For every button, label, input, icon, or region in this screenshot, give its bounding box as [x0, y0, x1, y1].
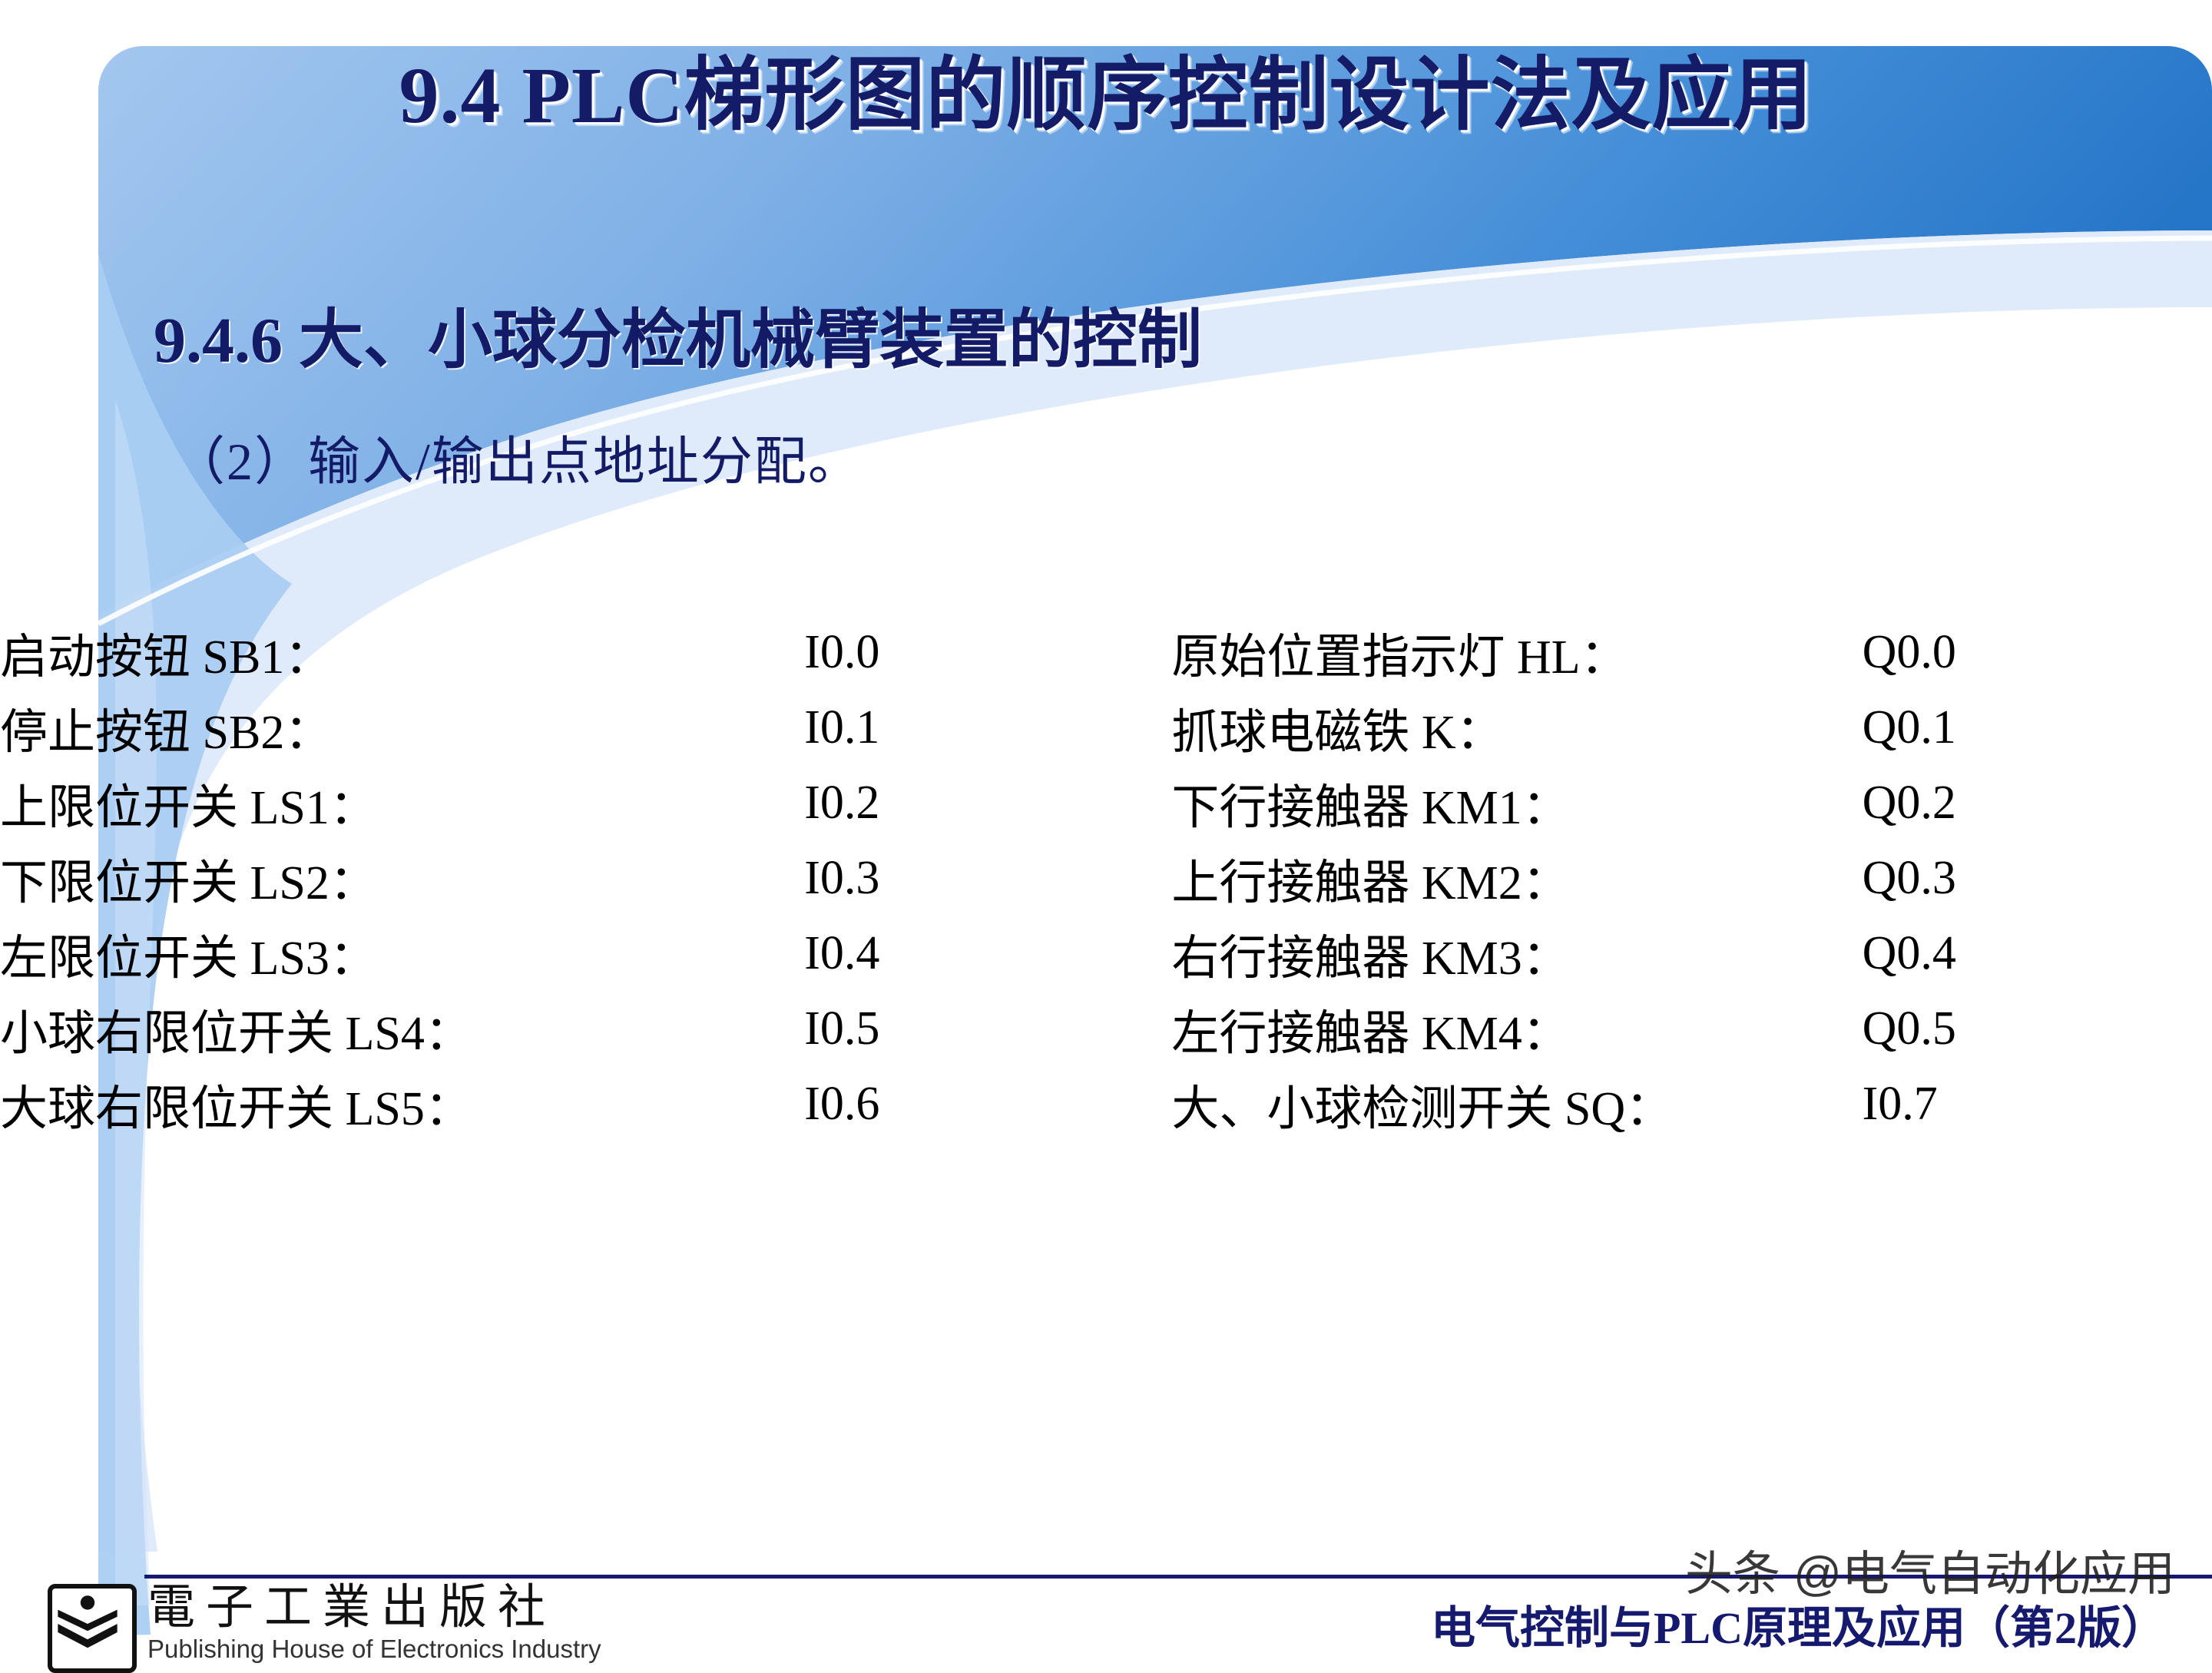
output-device-label: 抓球电磁铁 K：	[1171, 690, 1862, 765]
table-row: 上限位开关 LS1： I0.2 下行接触器 KM1： Q0.2	[0, 765, 2212, 840]
intro-line: （2）输入/输出点地址分配。	[173, 419, 862, 495]
table-row: 小球右限位开关 LS4： I0.5 左行接触器 KM4： Q0.5	[0, 991, 2212, 1066]
output-device-label: 上行接触器 KM2：	[1171, 840, 1862, 916]
table-row: 左限位开关 LS3： I0.4 右行接触器 KM3： Q0.4	[0, 916, 2212, 991]
output-device-label: 下行接触器 KM1：	[1171, 765, 1862, 840]
input-device-label: 上限位开关 LS1：	[0, 765, 804, 840]
input-device-label: 大球右限位开关 LS5：	[0, 1066, 804, 1141]
watermark-text: 头条 @电气自动化应用	[1685, 1535, 2175, 1604]
input-address: I0.2	[804, 765, 1171, 840]
output-device-label: 大、小球检测开关 SQ：	[1171, 1066, 1862, 1141]
publisher-name-cn: 電子工業出版社	[147, 1584, 601, 1632]
slide-content: 9.4.6 大、小球分检机械臂装置的控制 （2）输入/输出点地址分配。 启动按钮…	[0, 0, 2212, 1659]
phei-emblem-icon	[48, 1584, 137, 1673]
phei-chevron-icon	[52, 1589, 123, 1659]
output-address: I0.7	[1863, 1066, 2212, 1141]
publisher-name-en: Publishing House of Electronics Industry	[147, 1636, 601, 1661]
output-address: Q0.1	[1863, 690, 2212, 765]
input-address: I0.4	[804, 916, 1171, 991]
output-address: Q0.5	[1863, 991, 2212, 1066]
input-device-label: 左限位开关 LS3：	[0, 916, 804, 991]
output-address: Q0.3	[1863, 840, 2212, 916]
table-row: 停止按钮 SB2： I0.1 抓球电磁铁 K： Q0.1	[0, 690, 2212, 765]
input-address: I0.5	[804, 991, 1171, 1066]
input-device-label: 下限位开关 LS2：	[0, 840, 804, 916]
io-table-body: 启动按钮 SB1： I0.0 原始位置指示灯 HL： Q0.0 停止按钮 SB2…	[0, 615, 2212, 1141]
input-address: I0.1	[804, 690, 1171, 765]
publisher-wordmark: 電子工業出版社 Publishing House of Electronics …	[147, 1584, 601, 1661]
input-address: I0.3	[804, 840, 1171, 916]
io-address-table: 启动按钮 SB1： I0.0 原始位置指示灯 HL： Q0.0 停止按钮 SB2…	[0, 615, 2212, 1141]
section-heading: 9.4.6 大、小球分检机械臂装置的控制	[154, 288, 1202, 381]
output-device-label: 右行接触器 KM3：	[1171, 916, 1862, 991]
table-row: 下限位开关 LS2： I0.3 上行接触器 KM2： Q0.3	[0, 840, 2212, 916]
input-device-label: 启动按钮 SB1：	[0, 615, 804, 690]
output-address: Q0.0	[1863, 615, 2212, 690]
input-address: I0.0	[804, 615, 1171, 690]
output-address: Q0.2	[1863, 765, 2212, 840]
output-device-label: 原始位置指示灯 HL：	[1171, 615, 1862, 690]
input-address: I0.6	[804, 1066, 1171, 1141]
input-device-label: 小球右限位开关 LS4：	[0, 991, 804, 1066]
publisher-logo: 電子工業出版社 Publishing House of Electronics …	[48, 1584, 601, 1673]
table-row: 大球右限位开关 LS5： I0.6 大、小球检测开关 SQ： I0.7	[0, 1066, 2212, 1141]
output-device-label: 左行接触器 KM4：	[1171, 991, 1862, 1066]
input-device-label: 停止按钮 SB2：	[0, 690, 804, 765]
table-row: 启动按钮 SB1： I0.0 原始位置指示灯 HL： Q0.0	[0, 615, 2212, 690]
output-address: Q0.4	[1863, 916, 2212, 991]
